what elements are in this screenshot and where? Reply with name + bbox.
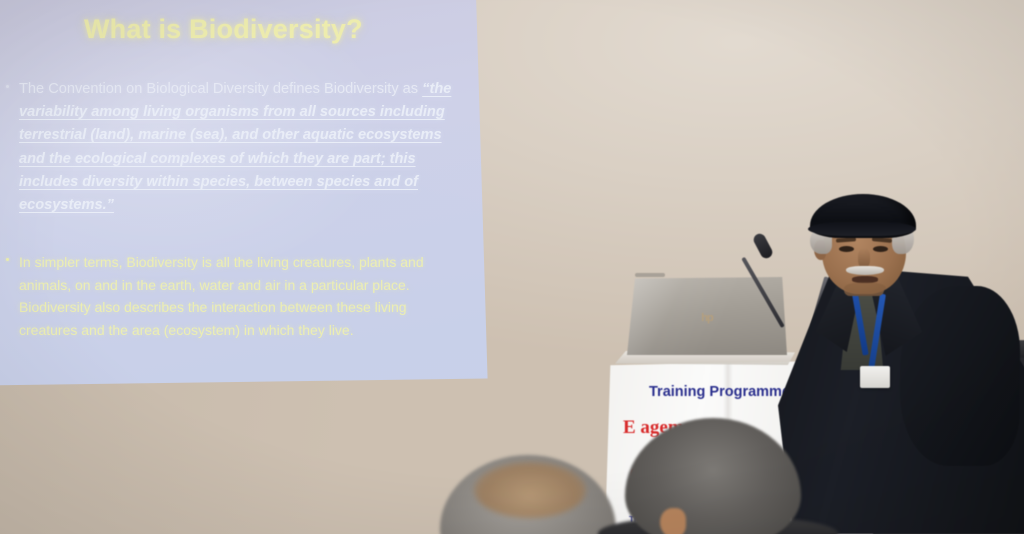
slide-content: What is Biodiversity? The Convention on …: [0, 0, 500, 390]
bullet-marker-icon: [6, 85, 9, 88]
audience-head-right-ear: [660, 508, 686, 534]
bullet-marker-icon: [6, 258, 9, 261]
slide-title: What is Biodiversity?: [84, 14, 363, 45]
speaker-eye-right: [873, 246, 888, 252]
slide-bullet-2-text: In simpler terms, Biodiversity is all th…: [19, 251, 459, 341]
laptop-brand-logo: hp: [701, 312, 712, 324]
laptop-hinge: [635, 273, 665, 277]
speaker-chin: [844, 282, 886, 294]
id-badge: [860, 366, 890, 388]
speaker-nose: [858, 248, 870, 268]
bullet-1-lead: The Convention on Biological Diversity d…: [19, 81, 422, 97]
speaker-mustache: [846, 266, 884, 275]
speaker-arm: [900, 286, 1020, 466]
speaker-cap-brim: [808, 222, 916, 236]
audience-head-left-scalp: [474, 462, 586, 518]
slide-bullet-1-text: The Convention on Biological Diversity d…: [19, 78, 459, 217]
speaker-eye-left: [839, 246, 854, 252]
bullet-1-quote: “the variability among living organisms …: [19, 81, 451, 213]
presentation-scene: What is Biodiversity? The Convention on …: [0, 0, 1024, 534]
